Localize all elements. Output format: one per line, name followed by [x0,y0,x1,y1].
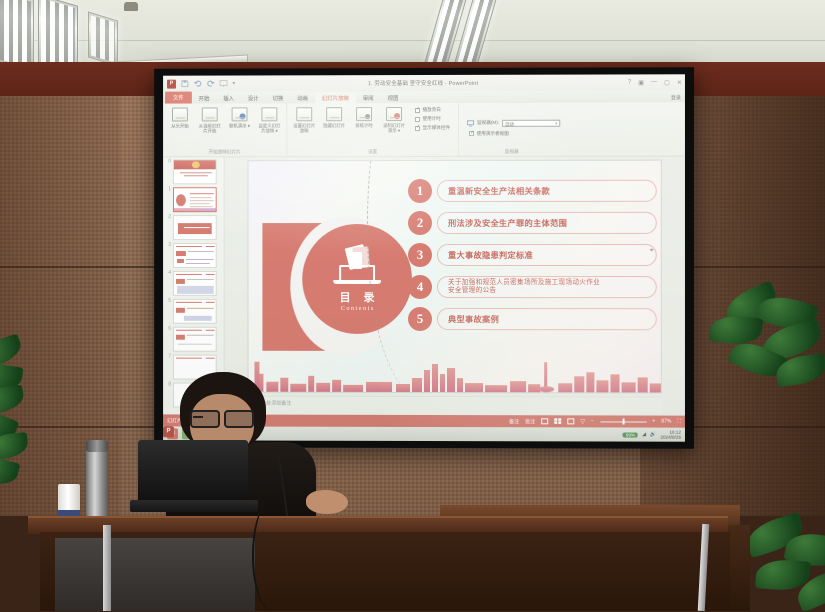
thumbnail-item[interactable]: 0 [163,157,224,185]
window-title: 1. 劳动安全基础 坚守安全红线 - PowerPoint [163,78,685,87]
thumbnail-number: 1 [165,187,171,192]
thumbnail-number: 7 [165,355,171,360]
maximize-icon[interactable]: ▢ [664,79,670,86]
thermos-bottle [86,442,108,518]
close-icon[interactable]: ✕ [677,79,682,86]
thumbnail-preview[interactable] [173,299,217,324]
ceiling-light-fixture [88,11,118,66]
checkbox-use-presenter-view[interactable]: 使用演示者视图 [467,130,509,136]
eyeglasses-bridge [193,416,203,418]
tab-transitions[interactable]: 切换 [266,92,291,103]
table-of-contents: 1 重温新安全生产法相关条款 2 刑法涉及安全生产罪的主体范围 3 重大事故隐患… [408,179,657,340]
zoom-in-button[interactable]: + [652,419,655,425]
minimize-icon[interactable]: — [651,79,657,85]
tab-view[interactable]: 视图 [381,92,406,103]
setup-slideshow-icon [296,107,312,121]
monitor-select[interactable]: 自动 [502,119,560,126]
thumbnail-item[interactable]: 2 [163,213,224,241]
monitor-label: 监视器(M): [477,120,499,126]
toc-number: 1 [408,179,432,203]
system-tray[interactable]: 99% ◢ 🔊 16:12 2024/9/26 [623,429,681,440]
clock-date: 2024/9/26 [660,435,681,440]
checkbox-use-timings[interactable]: 使用计时 [415,116,450,122]
ceiling-light-fixture [0,0,34,71]
monitor-row[interactable]: 监视器(M): 自动 [467,119,560,126]
from-current-slide-icon [202,107,218,121]
record-icon [386,107,402,121]
monitor-icon [467,119,474,126]
toc-number: 3 [408,243,432,267]
thumbnail-item[interactable]: 6 [163,325,224,353]
mouse-cursor-icon: ⌖ [650,247,654,255]
laptop-screen [138,440,248,502]
toc-label-line2: 安全管理的公告 [448,287,496,295]
window-controls[interactable]: ? ▣ — ▢ ✕ [628,79,682,86]
toc-label-line1: 关于加强和规范人员密集场所及施工现场动火作业 [448,279,600,287]
present-online-button[interactable]: 联机演示 ▾ [227,107,253,128]
ceiling-seam [0,40,825,41]
toc-label: 重大事故隐患判定标准 [437,244,657,266]
smoke-detector-icon [124,2,138,11]
thumbnail-preview[interactable] [173,271,217,296]
hide-slide-button[interactable]: 隐藏幻灯片 [321,107,347,128]
record-slideshow-button[interactable]: 录制幻灯片演示 ▾ [381,107,407,134]
help-icon[interactable]: ? [628,79,631,85]
slide-canvas[interactable]: 目 录 Contents 1 重温新安全生产法相关条款 2 [248,160,662,394]
ribbon-options-icon[interactable]: ▣ [638,79,644,86]
thumbnail-number: 0 [165,159,171,164]
fit-to-window-icon[interactable]: ⛶ [677,419,681,425]
thumbnail-item[interactable]: 5 [163,297,224,325]
thumbnail-number: 6 [165,327,171,332]
hide-slide-icon [326,107,342,121]
toc-label: 重温新安全生产法相关条款 [437,180,657,202]
zoom-out-button[interactable]: − [591,418,594,424]
checkbox-icon[interactable] [415,117,420,122]
slide-sorter-icon[interactable] [554,418,561,424]
thumbnail-item[interactable]: 3 [163,241,224,269]
ribbon[interactable]: 从头开始 从当前幻灯片开始 联机演示 ▾ [163,102,685,157]
tab-design[interactable]: 设计 [241,92,266,103]
ribbon-group-monitors: 监视器(M): 自动 使用演示者视图 监视器 [459,103,564,156]
present-online-icon [232,107,248,121]
volume-icon[interactable]: 🔊 [650,432,656,438]
thumbnail-preview[interactable] [173,327,217,352]
toc-number: 4 [408,275,432,299]
thumbnail-number: 2 [165,215,171,220]
mic-stand-left [103,525,111,611]
network-icon[interactable]: ◢ [642,432,646,438]
battery-status[interactable]: 99% [623,432,638,437]
podium-front-panel [55,538,255,611]
presenter-hand [306,490,348,514]
status-bar-right[interactable]: 备注 批注 ▽ − + 87% ⛶ [509,418,681,425]
tab-animations[interactable]: 动画 [290,92,315,103]
zoom-level-label[interactable]: 87% [661,419,671,425]
comments-toggle-button[interactable]: 批注 [525,418,535,425]
contents-subtitle: Contents [339,306,375,312]
ribbon-group-start-slideshow: 从头开始 从当前幻灯片开始 联机演示 ▾ [163,103,287,156]
group-label-start-slideshow: 开始放映幻灯片 [209,149,241,155]
group-label-setup: 设置 [368,149,377,155]
thumbnail-preview-selected[interactable] [173,187,217,212]
clock-icon [356,107,372,121]
thermos-cap [86,440,108,452]
checkbox-icon[interactable] [415,126,420,131]
thumbnail-preview[interactable] [173,243,217,268]
thumbnail-item[interactable]: 4 [163,269,224,297]
thumbnail-number: 5 [165,299,171,304]
clock[interactable]: 16:12 2024/9/26 [660,429,681,440]
thumbnail-preview[interactable] [173,159,217,184]
toc-number: 2 [408,211,432,235]
toc-item[interactable]: 5 典型事故案例 [408,307,657,331]
tab-file[interactable]: 文件 [165,92,192,104]
checkbox-play-narrations[interactable]: 播放旁白 [415,107,450,113]
signin-label[interactable]: 登录 [671,94,681,101]
zoom-slider-handle[interactable] [622,418,624,424]
toc-item[interactable]: 4 关于加强和规范人员密集场所及施工现场动火作业 安全管理的公告 [408,275,657,299]
tab-slideshow[interactable]: 幻灯片放映 [315,92,356,103]
laptop-base [130,500,258,512]
toc-item[interactable]: 2 刑法涉及安全生产罪的主体范围 [408,211,657,235]
conference-room-scene: P ▾ 1. 劳动安全基础 坚守安全红线 - PowerPoint ? ▣ — … [0,0,825,611]
toc-label: 典型事故案例 [437,308,657,330]
zoom-slider[interactable] [600,421,646,422]
notes-toggle-button[interactable]: 备注 [509,418,519,425]
slideshow-icon[interactable]: ▽ [580,418,585,425]
checkbox-show-media-controls[interactable]: 显示媒体控件 [415,125,450,131]
start-from-beginning-button[interactable]: 从头开始 [167,108,193,129]
tab-home[interactable]: 开始 [192,93,217,104]
from-beginning-icon [172,108,188,122]
thumbnail-number: 4 [165,271,171,276]
tab-insert[interactable]: 插入 [216,92,241,103]
rehearse-timings-button[interactable]: 排练计时 [351,107,377,128]
ribbon-group-setup: 设置幻灯片放映 隐藏幻灯片 排练计时 [287,103,459,156]
toc-label: 关于加强和规范人员密集场所及施工现场动火作业 安全管理的公告 [437,276,657,298]
thumbnail-number: 3 [165,243,171,248]
checkbox-icon[interactable] [469,131,474,136]
normal-view-icon[interactable] [541,418,548,424]
group-label-monitors: 监视器 [505,149,519,155]
reading-view-icon[interactable] [567,418,574,424]
toc-item[interactable]: 1 重温新安全生产法相关条款 [408,179,657,203]
custom-slideshow-icon [261,107,277,121]
custom-slideshow-button[interactable]: 自定义幻灯片放映 ▾ [256,107,282,133]
toc-label: 刑法涉及安全生产罪的主体范围 [437,212,657,234]
power-cable [252,500,292,611]
setup-checkbox-group[interactable]: 播放旁白 使用计时 显示媒体控件 [411,107,454,131]
thumbnail-preview[interactable] [173,215,217,240]
tab-review[interactable]: 审阅 [356,92,381,103]
setup-slideshow-button[interactable]: 设置幻灯片放映 [291,107,317,134]
toc-number: 5 [408,307,432,331]
checkbox-icon[interactable] [415,108,420,113]
thumbnail-item[interactable]: 1 [163,185,224,213]
title-bar: P ▾ 1. 劳动安全基础 坚守安全红线 - PowerPoint ? ▣ — … [163,74,685,91]
toc-item[interactable]: 3 重大事故隐患判定标准 [408,243,657,267]
start-from-current-button[interactable]: 从当前幻灯片开始 [197,107,223,133]
